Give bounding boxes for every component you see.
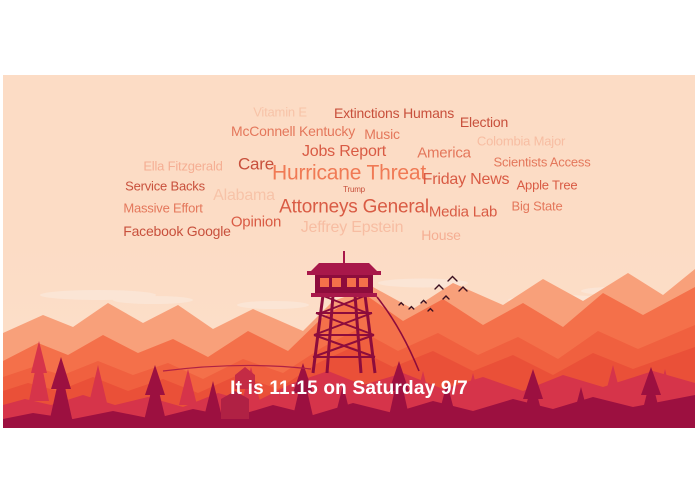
cloud-word: House	[421, 228, 460, 242]
cloud-word: Trump	[343, 186, 365, 194]
cloud-word: Friday News	[423, 172, 510, 188]
cloud-word: Massive Effort	[123, 202, 202, 215]
cloud-word: Election	[460, 115, 508, 129]
cloud-word: Big State	[512, 200, 563, 213]
cloud-word: Ella Fitzgerald	[143, 160, 222, 173]
cloud-word: Service Backs	[125, 180, 205, 193]
cloud-word: Music	[364, 127, 400, 141]
cloud-word: Facebook Google	[123, 224, 231, 238]
landscape-illustration	[3, 243, 695, 428]
cloud-word: Jeffrey Epstein	[301, 220, 404, 236]
app-surface: Vitamin EExtinctions HumansElectionMcCon…	[3, 75, 695, 428]
cloud-word: Care	[238, 156, 274, 173]
cloud-word: Alabama	[213, 188, 275, 204]
cloud-word: Jobs Report	[302, 144, 386, 160]
cloud-word: Hurricane Threat	[272, 163, 426, 184]
cloud-word: Opinion	[231, 215, 281, 230]
cloud-word: Vitamin E	[253, 106, 307, 119]
cloud-word: Extinctions Humans	[334, 106, 454, 120]
cloud-word: Attorneys General	[279, 198, 429, 217]
cloud-word: Apple Tree	[517, 179, 578, 192]
cloud-word: America	[417, 146, 471, 161]
page-root: Vitamin EExtinctions HumansElectionMcCon…	[0, 0, 695, 494]
cloud-word: McConnell Kentucky	[231, 124, 355, 138]
cloud-word: Colombia Major	[477, 135, 565, 148]
cloud-word: Scientists Access	[493, 156, 590, 169]
cloud-word: Media Lab	[429, 205, 497, 220]
